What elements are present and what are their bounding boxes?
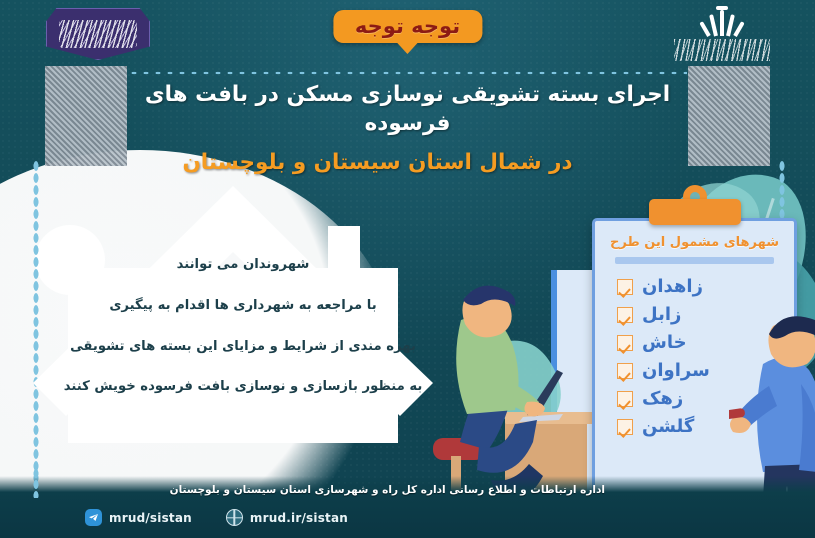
footer-link-label: mrud.ir/sistan <box>250 511 348 525</box>
city-list-item[interactable]: زاهدان <box>617 278 772 296</box>
city-name: زهک <box>642 390 683 408</box>
ministry-logo <box>667 6 777 64</box>
festival-badge-icon <box>46 8 150 60</box>
attention-badge-label: توجه توجه <box>355 15 460 37</box>
festival-calligraphy <box>59 20 137 48</box>
checkbox-checked-icon[interactable] <box>617 419 633 435</box>
footer-organization-text: اداره ارتباطات و اطلاع رسانی اداره کل را… <box>170 484 605 496</box>
city-name: زاهدان <box>642 278 703 296</box>
checkbox-checked-icon[interactable] <box>617 335 633 351</box>
body-line: با مراجعه به شهرداری ها اقدام به پیگیری <box>58 296 428 316</box>
city-name: خاش <box>642 334 687 352</box>
attention-badge: توجه توجه <box>333 10 482 43</box>
dotted-rule-top <box>128 70 687 76</box>
page-title: اجرای بسته تشویقی نوسازی مسکن در بافت ها… <box>128 80 687 177</box>
body-text-block: شهروندان می توانند با مراجعه به شهرداری … <box>58 255 428 397</box>
iran-emblem-icon <box>707 8 737 36</box>
ministry-calligraphy <box>674 39 770 61</box>
checkbox-checked-icon[interactable] <box>617 307 633 323</box>
clipboard-clip-icon <box>649 199 741 225</box>
title-line-secondary: در شمال استان سیستان و بلوچستان <box>128 148 687 177</box>
footer-links: mrud/sistan mrud.ir/sistan <box>85 509 348 526</box>
festival-logo <box>46 8 150 60</box>
hatched-panel-right <box>688 66 770 166</box>
checkbox-checked-icon[interactable] <box>617 279 633 295</box>
body-line: بهره مندی از شرایط و مزایای این بسته های… <box>58 337 428 357</box>
footer-link-website[interactable]: mrud.ir/sistan <box>226 509 348 526</box>
hatched-panel-left <box>45 66 127 166</box>
checkbox-checked-icon[interactable] <box>617 363 633 379</box>
footer-link-label: mrud/sistan <box>109 511 192 525</box>
clipboard-divider <box>615 257 774 264</box>
telegram-icon <box>85 509 102 526</box>
title-line-primary: اجرای بسته تشویقی نوسازی مسکن در بافت ها… <box>128 80 687 138</box>
globe-icon <box>226 509 243 526</box>
city-name: سراوان <box>642 362 710 380</box>
city-name: زابل <box>642 306 681 324</box>
checkbox-checked-icon[interactable] <box>617 391 633 407</box>
body-line: شهروندان می توانند <box>58 255 428 275</box>
infographic-poster: شهروندان می توانند با مراجعه به شهرداری … <box>0 0 815 538</box>
city-name: گلشن <box>642 418 694 436</box>
clipboard-title: شهرهای مشمول این طرح <box>595 235 794 250</box>
body-line: به منظور بازسازی و نوسازی بافت فرسوده خو… <box>58 377 428 397</box>
footer-dotted-rule <box>33 468 39 498</box>
footer-link-telegram[interactable]: mrud/sistan <box>85 509 192 526</box>
